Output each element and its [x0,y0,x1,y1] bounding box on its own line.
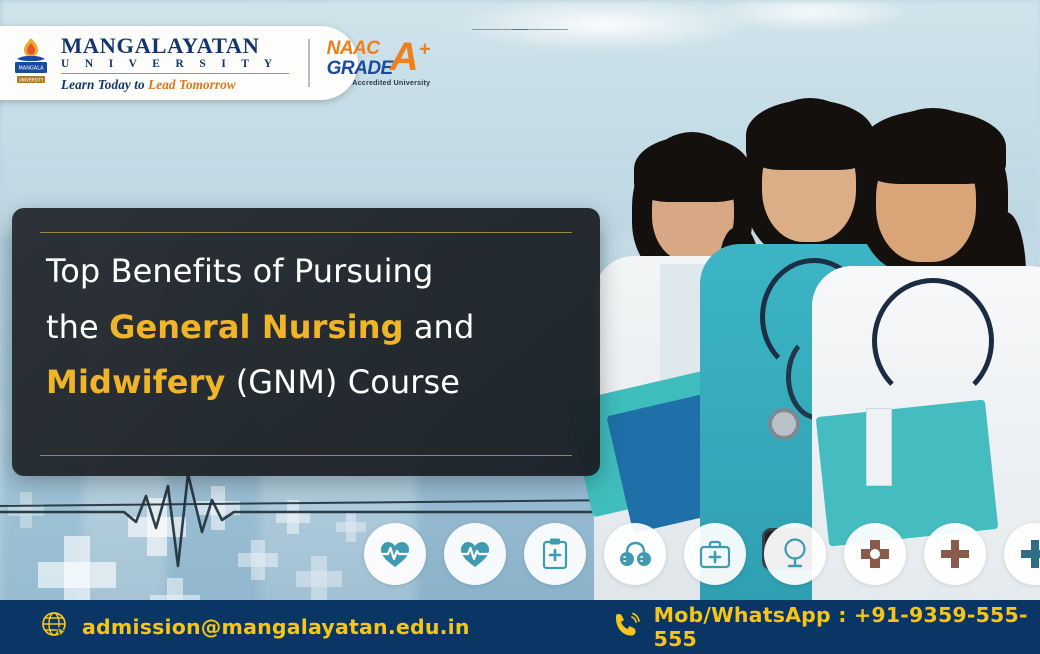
headline-line1: Top Benefits of Pursuing [46,252,433,290]
grade-value: A+ [390,39,431,76]
torch-book-emblem-icon: MANGALA UNIVERSITY [10,35,52,91]
university-logo-bar: MANGALA UNIVERSITY MANGALAYATAN U N I V … [0,26,358,100]
email-address: admission@mangalayatan.edu.in [82,615,470,639]
magnifier-icon [764,523,826,585]
university-word: U N I V E R S I T Y [61,59,289,73]
headline-highlight-nursing: General Nursing [109,308,403,346]
plus-cross-icon [924,523,986,585]
logo-divider [308,39,310,87]
contact-footer: admission@mangalayatan.edu.in Mob/WhatsA… [0,600,1040,654]
headline-line2-pre: the [46,308,109,346]
stethoscope-icon [604,523,666,585]
headline-panel: Top Benefits of Pursuing the General Nur… [12,208,600,476]
headline-line3-post: (GNM) Course [225,363,460,401]
grade-label: GRADE [327,59,393,78]
naac-grade-badge: NAAC GRADE A+ Accredited University [327,39,431,86]
accredited-text: Accredited University [327,79,431,86]
phone-contact[interactable]: Mob/WhatsApp : +91-9359-555-555 [612,603,1040,651]
headline-highlight-midwifery: Midwifery [46,363,225,401]
logo-wordmark: MANGALAYATAN U N I V E R S I T Y Learn T… [61,35,289,91]
heart-pulse-icon [444,523,506,585]
clipboard-cross-icon [524,523,586,585]
svg-text:UNIVERSITY: UNIVERSITY [19,77,44,82]
globe-cursor-icon [40,610,70,645]
email-contact[interactable]: admission@mangalayatan.edu.in [40,610,470,645]
gold-rule-top [40,232,572,233]
phone-number: Mob/WhatsApp : +91-9359-555-555 [654,603,1040,651]
gold-rule-bottom [40,455,572,456]
headline-line2-post: and [404,308,475,346]
phone-ring-icon [612,610,642,645]
cross-circle-icon [844,523,906,585]
heart-pulse-icon [364,523,426,585]
university-name: MANGALAYATAN [61,35,289,58]
first-aid-kit-icon [684,523,746,585]
promotional-banner: Top Benefits of Pursuing the General Nur… [0,0,1040,654]
tagline-part1: Learn Today to [61,77,145,92]
plus-cross-icon [1004,523,1040,585]
svg-text:MANGALA: MANGALA [18,66,44,72]
tagline-part2: Lead Tomorrow [148,77,236,92]
naac-label: NAAC [327,39,393,58]
university-tagline: Learn Today to Lead Tomorrow [61,78,289,91]
medical-icon-row [364,523,1040,585]
page-title: Top Benefits of Pursuing the General Nur… [46,244,576,411]
